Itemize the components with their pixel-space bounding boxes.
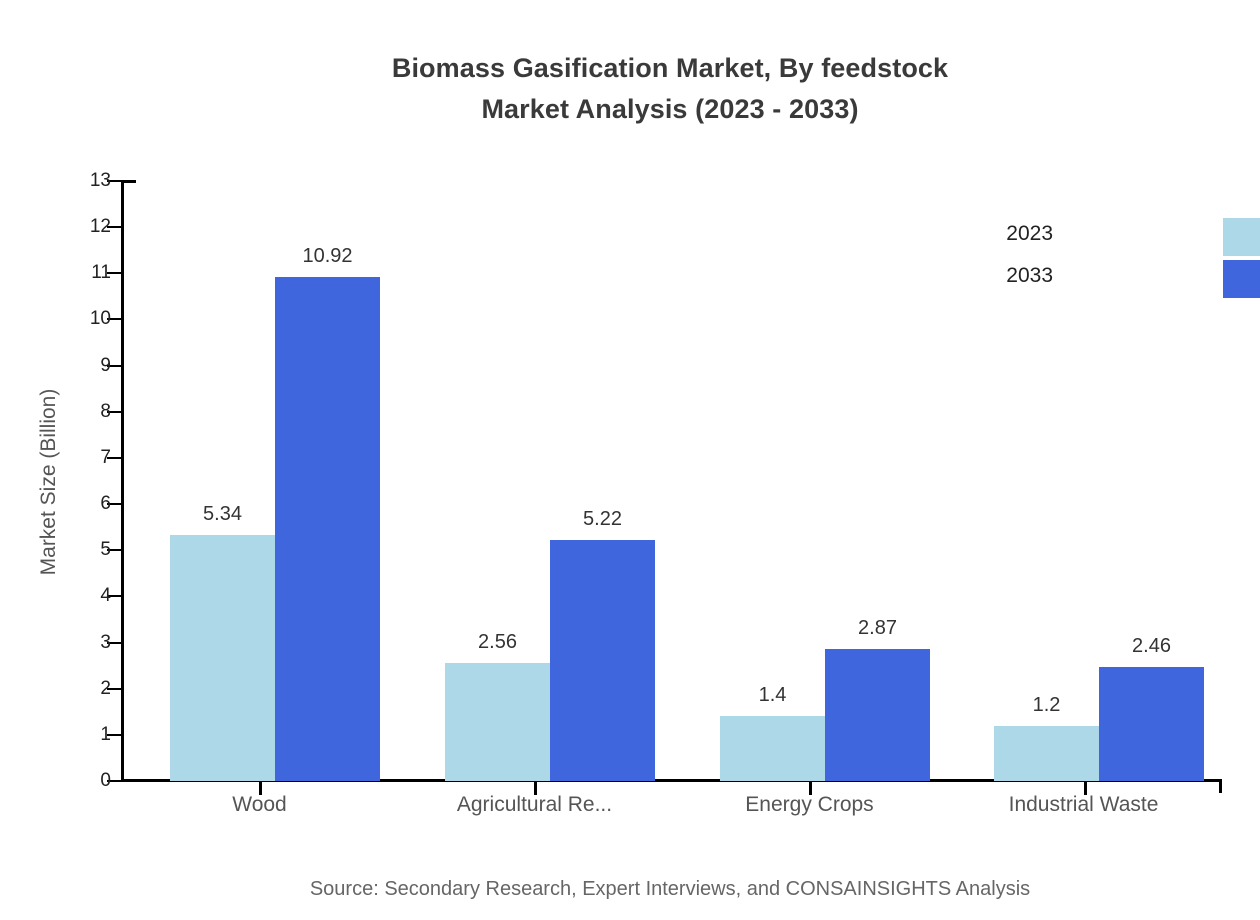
y-axis-tick-label: 13 bbox=[90, 171, 111, 190]
y-axis-tick-label: 11 bbox=[91, 263, 111, 282]
y-axis-tick-label: 8 bbox=[100, 402, 111, 421]
bar-value-label: 10.92 bbox=[255, 245, 400, 268]
x-axis-category-label: Industrial Waste bbox=[946, 793, 1221, 817]
legend-label-2033: 2033 bbox=[1006, 264, 1053, 288]
bar-value-label: 2.46 bbox=[1079, 635, 1224, 658]
bar-2023-energy-crops[interactable] bbox=[720, 716, 825, 781]
bar-value-label: 2.87 bbox=[805, 617, 950, 640]
bar-value-label: 2.56 bbox=[425, 631, 570, 654]
bar-value-label: 5.34 bbox=[150, 503, 295, 526]
bar-2033-industrial-waste[interactable] bbox=[1099, 667, 1204, 781]
y-axis-label: Market Size (Billion) bbox=[37, 332, 61, 632]
legend-swatch-2023 bbox=[1223, 218, 1260, 256]
y-axis-tick-label: 2 bbox=[100, 679, 111, 698]
x-axis-category-label: Agricultural Re... bbox=[397, 793, 672, 817]
y-axis-tick-label: 5 bbox=[100, 540, 111, 559]
y-axis-tick-label: 0 bbox=[100, 771, 111, 790]
y-axis-tick-label: 7 bbox=[100, 448, 111, 467]
source-note: Source: Secondary Research, Expert Inter… bbox=[0, 878, 1260, 901]
y-axis-top-cap bbox=[121, 180, 136, 183]
bar-2023-wood[interactable] bbox=[170, 535, 275, 781]
bar-value-label: 1.2 bbox=[974, 694, 1119, 717]
bar-value-label: 5.22 bbox=[530, 508, 675, 531]
bar-chart: Biomass Gasification Market, By feedstoc… bbox=[0, 0, 1260, 920]
bar-2023-industrial-waste[interactable] bbox=[994, 726, 1099, 781]
y-axis-tick-label: 1 bbox=[100, 725, 111, 744]
y-axis-tick-label: 10 bbox=[90, 309, 111, 328]
x-axis-end-cap bbox=[1219, 779, 1222, 793]
bar-2023-agricultural-re[interactable] bbox=[445, 663, 550, 781]
x-axis-category-label: Wood bbox=[122, 793, 397, 817]
bar-2033-wood[interactable] bbox=[275, 277, 380, 781]
legend-label-2023: 2023 bbox=[1006, 222, 1053, 246]
y-axis-tick-label: 3 bbox=[100, 633, 111, 652]
y-axis-tick-label: 6 bbox=[100, 494, 111, 513]
y-axis-line bbox=[121, 180, 124, 782]
bar-2033-agricultural-re[interactable] bbox=[550, 540, 655, 781]
y-axis-tick-label: 12 bbox=[90, 217, 111, 236]
y-axis-tick-label: 9 bbox=[100, 356, 111, 375]
legend-swatch-2033 bbox=[1223, 260, 1260, 298]
x-axis-category-label: Energy Crops bbox=[672, 793, 947, 817]
y-axis-tick-label: 4 bbox=[100, 586, 111, 605]
bar-value-label: 1.4 bbox=[700, 684, 845, 707]
plot-area: Market Size (Billion) 012345678910111213… bbox=[0, 0, 1260, 920]
bar-2033-energy-crops[interactable] bbox=[825, 649, 930, 781]
